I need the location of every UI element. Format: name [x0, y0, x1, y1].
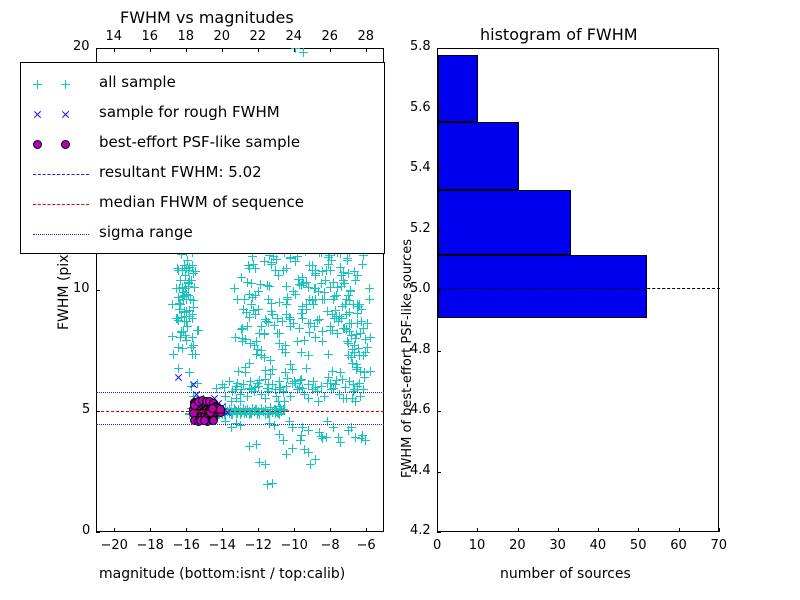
scatter-point-all-sample [281, 368, 290, 377]
right-yticklabel: 4.8 [410, 342, 431, 357]
left-xticklabel-bottom: −14 [209, 538, 236, 553]
scatter-point-all-sample [298, 273, 307, 282]
left-panel-title: FWHM vs magnitudes [120, 8, 294, 27]
right-xticklabel: 60 [670, 538, 687, 553]
scatter-point-all-sample [239, 305, 248, 314]
right-yticklabel: 5.2 [410, 221, 431, 236]
legend-item: sample for rough FWHM [21, 99, 384, 131]
right-xtick [598, 528, 599, 532]
reference-line-sigma-range-lower [96, 424, 384, 425]
scatter-point-all-sample [353, 271, 362, 280]
scatter-point-all-sample [245, 264, 254, 273]
scatter-point-all-sample [320, 288, 329, 297]
scatter-point-all-sample [329, 295, 338, 304]
left-yticklabel: 5 [82, 402, 90, 417]
legend-line-icon [33, 234, 89, 235]
scatter-point-all-sample [311, 271, 320, 280]
scatter-point-all-sample [281, 348, 290, 357]
scatter-point-all-sample [300, 445, 309, 454]
right-xaxis-label: number of sources [500, 566, 631, 582]
scatter-point-all-sample [357, 305, 366, 314]
left-xtick-top [114, 48, 115, 52]
scatter-point-all-sample [297, 431, 306, 440]
scatter-point-all-sample [299, 48, 308, 57]
right-xtick [719, 528, 720, 532]
scatter-point-all-sample [175, 305, 184, 314]
scatter-point-all-sample [345, 319, 354, 328]
left-xtick-bottom [294, 528, 295, 532]
scatter-point-all-sample [359, 324, 368, 333]
legend-plus-icon [61, 80, 70, 89]
histogram-reference-line [438, 288, 720, 289]
left-xticklabel-top: 28 [358, 29, 375, 44]
scatter-point-all-sample [324, 350, 333, 359]
scatter-point-all-sample [176, 276, 185, 285]
scatter-point-all-sample [358, 260, 367, 269]
right-yticklabel: 5.0 [410, 281, 431, 296]
right-xticklabel: 20 [509, 538, 526, 553]
legend-x-icon [33, 110, 42, 119]
scatter-point-all-sample [291, 290, 300, 299]
scatter-point-all-sample [322, 266, 331, 275]
histogram-bar [438, 55, 478, 122]
right-yaxis-label: FWHM of best-effort PSF-like sources [400, 239, 415, 478]
reference-line-sigma-range-upper [96, 392, 384, 393]
right-xticklabel: 40 [590, 538, 607, 553]
histogram-bar [438, 190, 571, 255]
histogram-bar [438, 255, 647, 319]
scatter-point-all-sample [275, 339, 284, 348]
scatter-point-all-sample [185, 368, 194, 377]
left-xticklabel-bottom: −18 [137, 538, 164, 553]
left-xtick-top [222, 48, 223, 52]
legend-item: all sample [21, 69, 384, 101]
right-ytick [437, 169, 441, 170]
scatter-point-all-sample [238, 334, 247, 343]
right-yticklabel: 4.2 [410, 523, 431, 538]
legend-dot-icon [33, 140, 42, 149]
scatter-point-all-sample [365, 295, 374, 304]
left-yaxis-label: FWHM (pix) [56, 249, 72, 330]
scatter-point-all-sample [263, 281, 272, 290]
scatter-point-all-sample [186, 295, 195, 304]
left-xticklabel-top: 26 [322, 29, 339, 44]
legend-item: sigma range [21, 219, 384, 251]
scatter-point-all-sample [261, 460, 270, 469]
scatter-point-all-sample [246, 339, 255, 348]
right-xticklabel: 10 [469, 538, 486, 553]
legend-item-label: sigma range [99, 223, 193, 241]
scatter-point-all-sample [252, 440, 261, 449]
scatter-point-all-sample [361, 348, 370, 357]
scatter-point-all-sample [346, 286, 355, 295]
scatter-point-all-sample [326, 322, 335, 331]
left-xticklabel-top: 18 [178, 29, 195, 44]
legend-item-label: sample for rough FWHM [99, 103, 280, 121]
legend-item-label: best-effort PSF-like sample [99, 133, 300, 151]
legend-item-label: all sample [99, 73, 176, 91]
right-xticklabel: 0 [433, 538, 441, 553]
left-xticklabel-top: 22 [250, 29, 267, 44]
scatter-point-all-sample [268, 310, 277, 319]
scatter-point-all-sample [358, 431, 367, 440]
right-yticklabel: 4.6 [410, 402, 431, 417]
scatter-point-all-sample [308, 261, 317, 270]
left-xticklabel-top: 24 [286, 29, 303, 44]
scatter-point-all-sample [279, 436, 288, 445]
left-xtick-bottom [366, 528, 367, 532]
legend-item: best-effort PSF-like sample [21, 129, 384, 161]
right-xtick [477, 528, 478, 532]
scatter-point-all-sample [365, 284, 374, 293]
right-ytick [437, 48, 441, 49]
scatter-point-all-sample [236, 421, 245, 430]
scatter-point-all-sample [317, 382, 326, 391]
right-xtick [679, 528, 680, 532]
left-xtick-top [294, 48, 295, 52]
legend-item: median FHWM of sequence [21, 189, 384, 221]
scatter-point-all-sample [286, 315, 295, 324]
scatter-point-all-sample [309, 300, 318, 309]
left-xtick-top [258, 48, 259, 52]
scatter-point-rough-fwhm [189, 380, 198, 389]
left-xticklabel-bottom: −6 [357, 538, 376, 553]
scatter-point-all-sample [268, 479, 277, 488]
right-yticklabel: 4.4 [410, 463, 431, 478]
scatter-point-all-sample [237, 273, 246, 282]
scatter-point-all-sample [356, 392, 365, 401]
scatter-point-all-sample [353, 363, 362, 372]
reference-line-median-fhwm-of-sequence [96, 411, 384, 412]
right-yticklabel: 5.4 [410, 160, 431, 175]
figure-canvas: FWHM vs magnitudes magnitude (bottom:isn… [0, 0, 800, 600]
left-ytick [96, 411, 100, 412]
legend-item: resultant FWHM: 5.02 [21, 159, 384, 191]
left-xtick-bottom [150, 528, 151, 532]
scatter-point-all-sample [342, 310, 351, 319]
scatter-point-all-sample [297, 348, 306, 357]
scatter-point-all-sample [181, 331, 190, 340]
right-xticklabel: 70 [711, 538, 728, 553]
left-xticklabel-bottom: −16 [173, 538, 200, 553]
scatter-point-all-sample [260, 353, 269, 362]
right-ytick [437, 351, 441, 352]
left-xticklabel-top: 16 [142, 29, 159, 44]
right-xtick [558, 528, 559, 532]
scatter-point-all-sample [182, 264, 191, 273]
scatter-point-all-sample [275, 298, 284, 307]
right-xticklabel: 50 [630, 538, 647, 553]
legend-line-icon [33, 174, 89, 175]
left-ytick [96, 290, 100, 291]
scatter-point-all-sample [189, 341, 198, 350]
legend-plus-icon [33, 80, 42, 89]
right-xticklabel: 30 [549, 538, 566, 553]
scatter-point-all-sample [255, 329, 264, 338]
scatter-point-all-sample [306, 319, 315, 328]
scatter-point-all-sample [270, 421, 279, 430]
histogram-bar [438, 122, 519, 190]
right-plot-frame [437, 48, 719, 532]
scatter-point-rough-fwhm [174, 373, 183, 382]
scatter-point-all-sample [245, 290, 254, 299]
left-yticklabel: 10 [73, 281, 90, 296]
right-ytick [437, 109, 441, 110]
scatter-point-all-sample [295, 324, 304, 333]
scatter-point-all-sample [272, 255, 281, 264]
scatter-point-all-sample [279, 266, 288, 275]
left-yticklabel: 0 [82, 523, 90, 538]
right-yticklabel: 5.8 [410, 39, 431, 54]
legend-line-icon [33, 204, 89, 205]
left-xtick-bottom [258, 528, 259, 532]
left-xtick-top [150, 48, 151, 52]
scatter-point-all-sample [327, 256, 336, 265]
scatter-point-all-sample [241, 363, 250, 372]
scatter-point-all-sample [243, 322, 252, 331]
scatter-point-all-sample [183, 322, 192, 331]
scatter-point-all-sample [264, 295, 273, 304]
scatter-point-all-sample [169, 350, 178, 359]
right-panel-title: histogram of FWHM [480, 25, 638, 44]
left-xtick-bottom [186, 528, 187, 532]
scatter-point-all-sample [218, 380, 227, 389]
scatter-point-all-sample [247, 300, 256, 309]
left-xticklabel-bottom: −10 [281, 538, 308, 553]
scatter-point-all-sample [360, 373, 369, 382]
scatter-point-all-sample [315, 315, 324, 324]
scatter-point-all-sample [318, 337, 327, 346]
left-xticklabel-top: 20 [214, 29, 231, 44]
scatter-point-all-sample [339, 276, 348, 285]
right-ytick [437, 472, 441, 473]
scatter-point-all-sample [282, 450, 291, 459]
right-ytick [437, 230, 441, 231]
scatter-point-all-sample [185, 312, 194, 321]
left-xtick-top [330, 48, 331, 52]
scatter-point-all-sample [188, 350, 197, 359]
left-xtick-bottom [330, 528, 331, 532]
legend-dot-icon [61, 140, 70, 149]
left-xticklabel-bottom: −12 [245, 538, 272, 553]
scatter-point-all-sample [322, 433, 331, 442]
fwhm-histogram-plot [437, 48, 719, 532]
scatter-point-all-sample [366, 333, 375, 342]
right-xtick [518, 528, 519, 532]
right-ytick [437, 532, 441, 533]
scatter-point-all-sample [184, 278, 193, 287]
legend-item-label: median FHWM of sequence [99, 193, 304, 211]
left-xtick-bottom [114, 528, 115, 532]
left-yticklabel: 20 [73, 39, 90, 54]
right-yticklabel: 5.6 [410, 100, 431, 115]
left-xaxis-label: magnitude (bottom:isnt / top:calib) [99, 566, 345, 582]
left-xticklabel-bottom: −20 [101, 538, 128, 553]
left-ytick [96, 48, 100, 49]
scatter-point-all-sample [193, 326, 202, 335]
scatter-point-all-sample [311, 284, 320, 293]
right-xtick [638, 528, 639, 532]
scatter-point-all-sample [336, 438, 345, 447]
legend: all samplesample for rough FWHMbest-effo… [20, 62, 385, 254]
left-xticklabel-top: 14 [106, 29, 123, 44]
left-xticklabel-bottom: −8 [321, 538, 340, 553]
legend-item-label: resultant FWHM: 5.02 [99, 163, 262, 181]
scatter-point-all-sample [302, 364, 311, 373]
scatter-point-all-sample [273, 329, 282, 338]
scatter-point-all-sample [178, 344, 187, 353]
scatter-point-all-sample [347, 353, 356, 362]
scatter-point-all-sample [300, 336, 309, 345]
right-ytick [437, 290, 441, 291]
left-xtick-top [366, 48, 367, 52]
legend-x-icon [61, 110, 70, 119]
left-xtick-bottom [222, 528, 223, 532]
left-ytick [96, 532, 100, 533]
left-xtick-top [186, 48, 187, 52]
scatter-point-all-sample [311, 455, 320, 464]
scatter-point-all-sample [343, 256, 352, 265]
scatter-point-all-sample [230, 284, 239, 293]
scatter-point-all-sample [353, 382, 362, 391]
right-ytick [437, 411, 441, 412]
